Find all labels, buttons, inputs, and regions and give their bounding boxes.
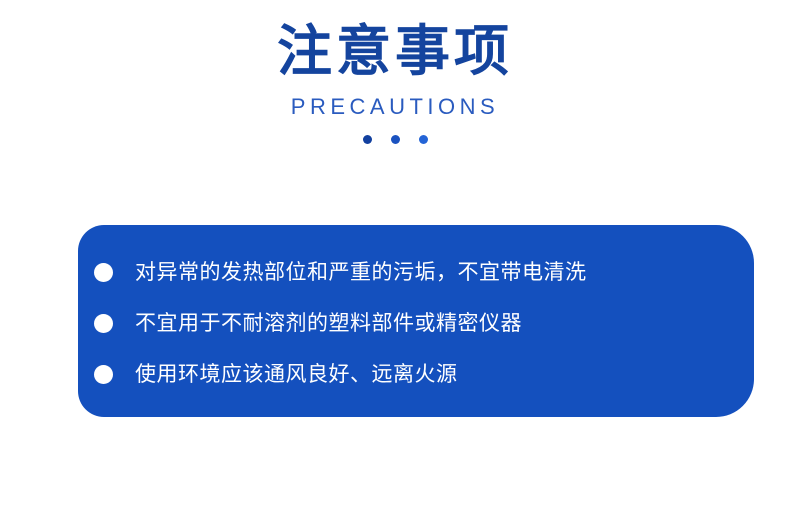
bullet-dot-icon xyxy=(94,263,113,282)
precautions-list: 对异常的发热部位和严重的污垢，不宜带电清洗 不宜用于不耐溶剂的塑料部件或精密仪器… xyxy=(78,247,754,400)
page-header: 注意事项 PRECAUTIONS xyxy=(0,0,790,144)
dot-2-icon xyxy=(391,135,400,144)
dot-divider xyxy=(0,120,790,144)
list-item: 使用环境应该通风良好、远离火源 xyxy=(78,349,754,400)
precautions-page: 注意事项 PRECAUTIONS 对异常的发热部位和严重的污垢，不宜带电清洗 不… xyxy=(0,0,790,506)
list-item-label: 对异常的发热部位和严重的污垢，不宜带电清洗 xyxy=(135,259,587,287)
bullet-dot-icon xyxy=(94,365,113,384)
list-item: 对异常的发热部位和严重的污垢，不宜带电清洗 xyxy=(78,247,754,298)
dot-1-icon xyxy=(363,135,372,144)
page-title: 注意事项 xyxy=(0,0,790,82)
dot-3-icon xyxy=(419,135,428,144)
list-item-label: 使用环境应该通风良好、远离火源 xyxy=(135,361,458,389)
bullet-dot-icon xyxy=(94,314,113,333)
list-item: 不宜用于不耐溶剂的塑料部件或精密仪器 xyxy=(78,298,754,349)
list-item-label: 不宜用于不耐溶剂的塑料部件或精密仪器 xyxy=(135,310,522,338)
precautions-card: 对异常的发热部位和严重的污垢，不宜带电清洗 不宜用于不耐溶剂的塑料部件或精密仪器… xyxy=(78,225,754,417)
page-subtitle: PRECAUTIONS xyxy=(0,82,790,120)
